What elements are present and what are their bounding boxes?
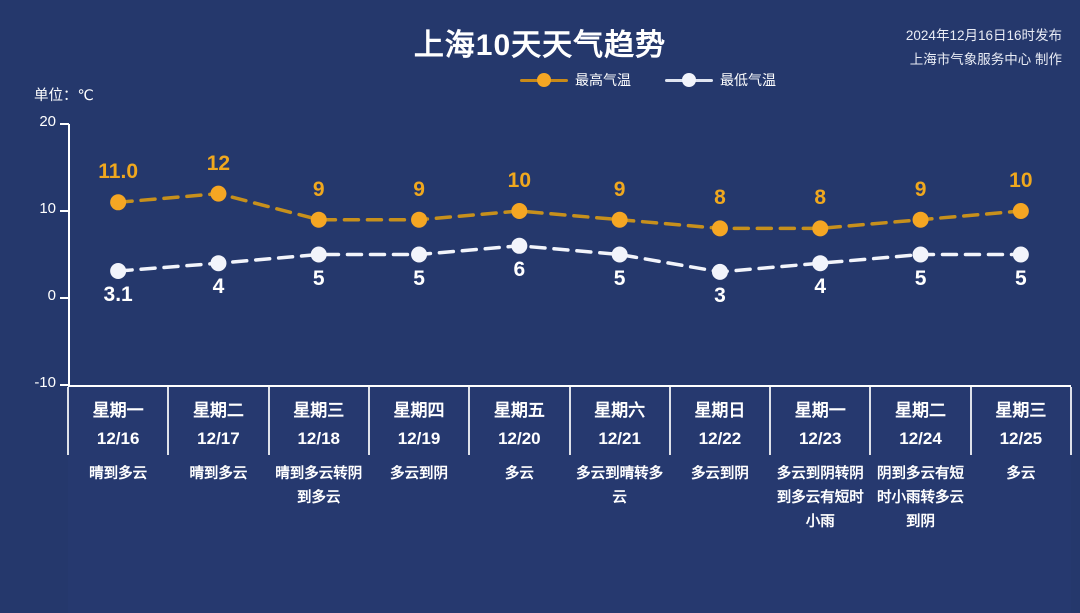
x-axis-column: 星期五12/20多云	[469, 392, 569, 486]
low-temp-line	[118, 246, 1021, 272]
high-temp-point	[210, 186, 226, 202]
low-temp-value-label: 5	[915, 267, 927, 291]
high-temp-point	[110, 194, 126, 210]
x-axis-column: 星期三12/25多云	[971, 392, 1071, 486]
x-axis-weekday-label: 星期二	[168, 400, 268, 422]
low-temp-point	[311, 247, 327, 263]
high-temp-point	[612, 212, 628, 228]
low-temp-point	[210, 255, 226, 271]
high-temp-value-label: 8	[814, 186, 826, 210]
x-axis-column: 星期六12/21多云到晴转多云	[570, 392, 670, 510]
x-axis-date-label: 12/18	[269, 428, 369, 450]
x-axis-column: 星期二12/24阴到多云有短时小雨转多云到阴	[870, 392, 970, 534]
low-temp-point	[913, 247, 929, 263]
x-axis-weekday-label: 星期一	[770, 400, 870, 422]
x-axis-weekday-label: 星期三	[269, 400, 369, 422]
low-temp-value-label: 3	[714, 284, 726, 308]
x-axis-weekday-label: 星期五	[469, 400, 569, 422]
high-temp-point	[913, 212, 929, 228]
low-temp-point	[1013, 247, 1029, 263]
high-temp-point	[311, 212, 327, 228]
low-temp-value-label: 5	[413, 267, 425, 291]
weather-condition-text: 多云到阴	[670, 462, 770, 486]
high-temp-point	[511, 203, 527, 219]
low-temp-value-label: 4	[814, 275, 826, 299]
x-axis-column: 星期日12/22多云到阴	[670, 392, 770, 486]
high-temp-value-label: 9	[413, 178, 425, 202]
plot-area: 20100-10 11.01299109889103.1455653455 星期…	[0, 0, 1080, 613]
x-axis-column: 星期四12/19多云到阴	[369, 392, 469, 486]
low-temp-value-label: 5	[313, 267, 325, 291]
x-axis-date-label: 12/19	[369, 428, 469, 450]
x-axis-date-label: 12/16	[68, 428, 168, 450]
high-temp-point	[812, 220, 828, 236]
x-axis-date-label: 12/25	[971, 428, 1071, 450]
low-temp-value-label: 6	[514, 258, 526, 282]
low-temp-value-label: 5	[1015, 267, 1027, 291]
x-axis-weekday-label: 星期三	[971, 400, 1071, 422]
weather-condition-text: 多云	[971, 462, 1071, 486]
x-axis-date-label: 12/17	[168, 428, 268, 450]
low-temp-value-label: 5	[614, 267, 626, 291]
weather-condition-text: 晴到多云转阴到多云	[269, 462, 369, 510]
weather-condition-text: 多云	[469, 462, 569, 486]
low-temp-value-label: 4	[213, 275, 225, 299]
x-axis-date-label: 12/23	[770, 428, 870, 450]
x-axis-column: 星期一12/23多云到阴转阴到多云有短时小雨	[770, 392, 870, 534]
high-temp-value-label: 12	[207, 152, 230, 176]
high-temp-line	[118, 194, 1021, 229]
high-temp-point	[1013, 203, 1029, 219]
low-temp-point	[612, 247, 628, 263]
high-temp-value-label: 9	[313, 178, 325, 202]
x-axis-date-label: 12/24	[870, 428, 970, 450]
weather-condition-text: 多云到晴转多云	[570, 462, 670, 510]
low-temp-value-label: 3.1	[104, 283, 133, 307]
weather-condition-text: 晴到多云	[68, 462, 168, 486]
x-axis-weekday-label: 星期六	[570, 400, 670, 422]
high-temp-value-label: 11.0	[98, 160, 138, 184]
high-temp-value-label: 8	[714, 186, 726, 210]
x-axis-date-label: 12/20	[469, 428, 569, 450]
x-axis-column: 星期一12/16晴到多云	[68, 392, 168, 486]
low-temp-point	[812, 255, 828, 271]
high-temp-value-label: 10	[508, 169, 531, 193]
weather-condition-text: 阴到多云有短时小雨转多云到阴	[870, 462, 970, 534]
x-axis-weekday-label: 星期二	[870, 400, 970, 422]
high-temp-point	[411, 212, 427, 228]
weather-trend-chart: 上海10天天气趋势 2024年12月16日16时发布 上海市气象服务中心 制作 …	[0, 0, 1080, 613]
low-temp-point	[712, 264, 728, 280]
high-temp-value-label: 9	[915, 178, 927, 202]
x-axis-column: 星期二12/17晴到多云	[168, 392, 268, 486]
x-axis-date-label: 12/22	[670, 428, 770, 450]
x-axis-weekday-label: 星期一	[68, 400, 168, 422]
high-temp-value-label: 10	[1009, 169, 1032, 193]
low-temp-point	[511, 238, 527, 254]
weather-condition-text: 多云到阴	[369, 462, 469, 486]
low-temp-point	[110, 263, 126, 279]
high-temp-value-label: 9	[614, 178, 626, 202]
x-axis-date-label: 12/21	[570, 428, 670, 450]
x-axis-weekday-label: 星期日	[670, 400, 770, 422]
x-axis-column: 星期三12/18晴到多云转阴到多云	[269, 392, 369, 510]
x-axis-weekday-label: 星期四	[369, 400, 469, 422]
weather-condition-text: 晴到多云	[168, 462, 268, 486]
high-temp-point	[712, 220, 728, 236]
low-temp-point	[411, 247, 427, 263]
weather-condition-text: 多云到阴转阴到多云有短时小雨	[770, 462, 870, 534]
